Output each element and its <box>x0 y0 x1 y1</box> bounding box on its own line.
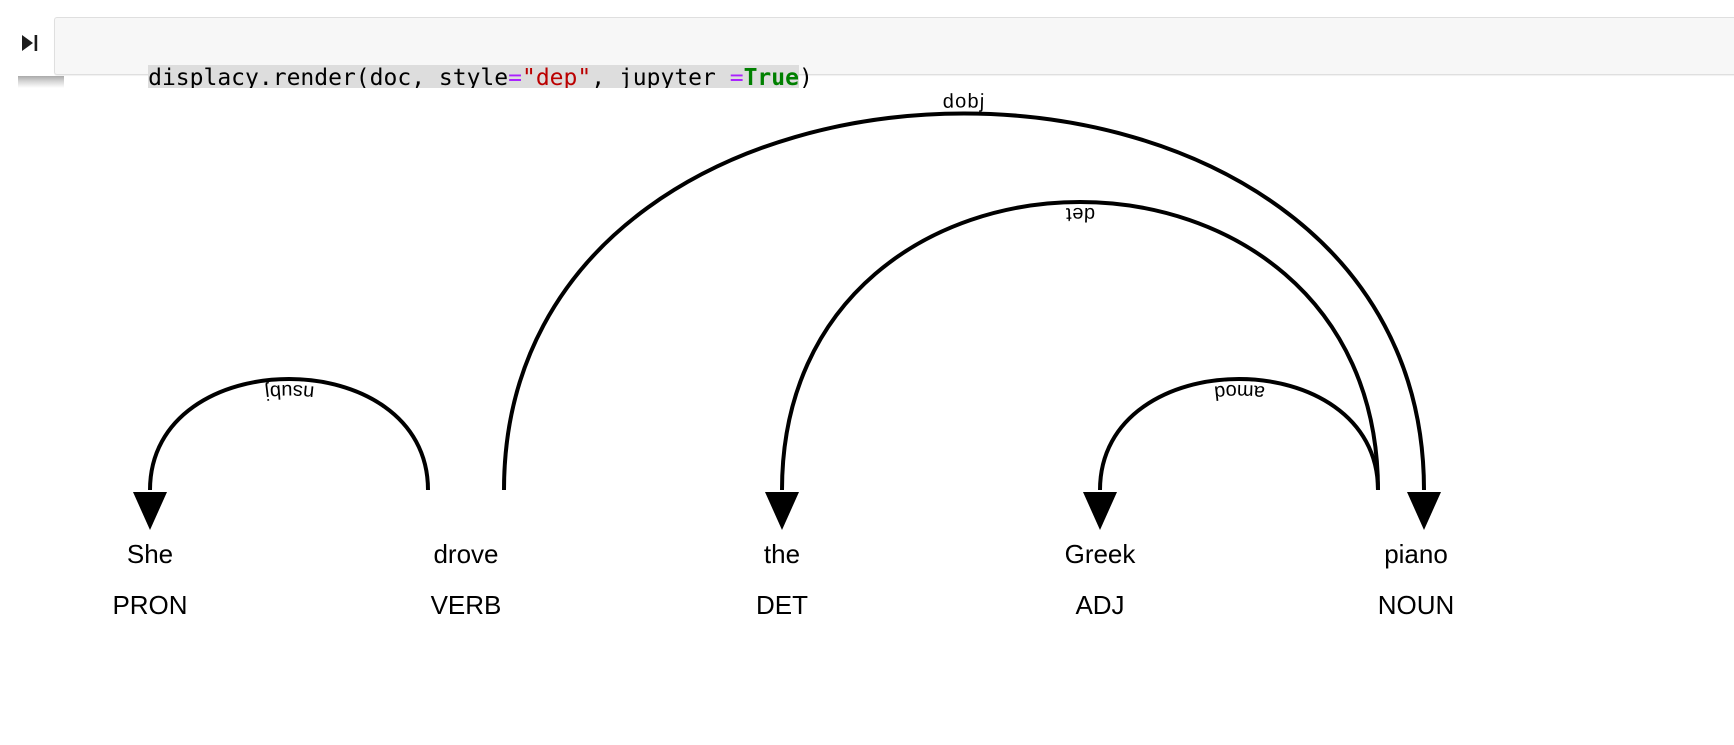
dep-arc-dobj <box>504 114 1424 491</box>
dep-arrowhead-amod <box>1083 492 1117 530</box>
arcs-group: nsubjdobjdetamod <box>133 90 1441 530</box>
dep-arc-label-nsubj: nsubj <box>263 380 315 404</box>
dep-tag-pron: PRON <box>112 590 187 620</box>
words-group: ShePRONdroveVERBtheDETGreekADJpianoNOUN <box>112 539 1454 620</box>
dependency-parse-svg: nsubjdobjdetamod ShePRONdroveVERBtheDETG… <box>0 88 1734 745</box>
dep-arc-label-amod: amod <box>1212 380 1266 404</box>
dep-arc-label-det: det <box>1065 203 1096 225</box>
dep-tag-adj: ADJ <box>1075 590 1124 620</box>
dep-tag-verb: VERB <box>431 590 502 620</box>
displacy-dependency-output: nsubjdobjdetamod ShePRONdroveVERBtheDETG… <box>0 88 1734 745</box>
dep-arc-det <box>782 202 1378 490</box>
dep-tag-det: DET <box>756 590 808 620</box>
run-step-icon[interactable] <box>17 31 41 55</box>
cell-toolbar <box>0 14 58 72</box>
dep-word-the: the <box>764 539 800 569</box>
dep-arrowhead-dobj <box>1407 492 1441 530</box>
dep-word-drove: drove <box>433 539 498 569</box>
dep-arrowhead-nsubj <box>133 492 167 530</box>
notebook-code-cell: displacy.render(doc, style="dep", jupyte… <box>0 0 1734 88</box>
dep-word-greek: Greek <box>1065 539 1137 569</box>
cell-shadow-nub <box>18 76 64 88</box>
dep-tag-noun: NOUN <box>1378 590 1455 620</box>
dep-arc-label-dobj: dobj <box>943 90 986 112</box>
code-input-area[interactable]: displacy.render(doc, style="dep", jupyte… <box>54 17 1734 75</box>
dep-arrowhead-det <box>765 492 799 530</box>
dep-word-she: She <box>127 539 173 569</box>
dep-word-piano: piano <box>1384 539 1448 569</box>
